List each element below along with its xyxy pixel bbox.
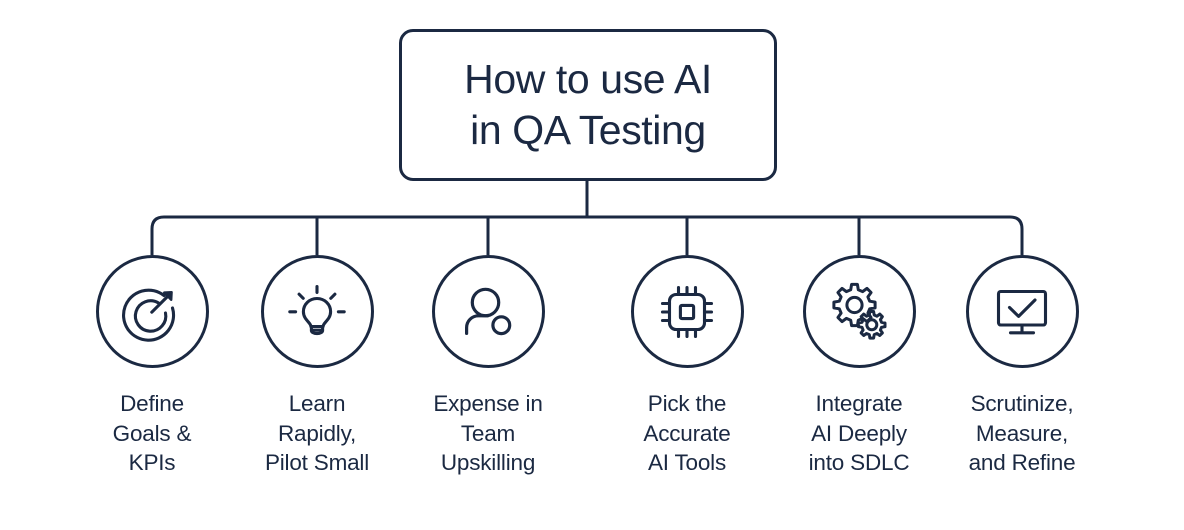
branch-icon-circle-1 <box>96 255 209 368</box>
branch-icon-circle-2 <box>261 255 374 368</box>
branch-node-1[interactable]: Define Goals & KPIs <box>93 255 211 478</box>
branch-icon-circle-6 <box>966 255 1079 368</box>
gears-icon <box>827 280 891 344</box>
target-arrow-icon <box>120 280 184 344</box>
monitor-check-icon <box>990 280 1054 344</box>
branch-icon-circle-4 <box>631 255 744 368</box>
connector-branch-1 <box>152 217 164 255</box>
page-title: How to use AI in QA Testing <box>464 54 712 156</box>
branch-label-4: Pick the Accurate AI Tools <box>628 389 746 478</box>
branch-node-3[interactable]: Expense in Team Upskilling <box>429 255 547 478</box>
branch-label-3: Expense in Team Upskilling <box>429 389 547 478</box>
branch-icon-circle-5 <box>803 255 916 368</box>
branch-node-2[interactable]: Learn Rapidly, Pilot Small <box>258 255 376 478</box>
branch-label-5: Integrate AI Deeply into SDLC <box>800 389 918 478</box>
branch-icon-circle-3 <box>432 255 545 368</box>
branch-node-5[interactable]: Integrate AI Deeply into SDLC <box>800 255 918 478</box>
person-user-icon <box>457 281 519 343</box>
diagram-canvas: How to use AI in QA Testing Define Goals… <box>0 0 1184 530</box>
cpu-chip-icon <box>656 281 718 343</box>
lightbulb-icon <box>286 281 348 343</box>
diagram-title-box: How to use AI in QA Testing <box>399 29 777 181</box>
branch-node-4[interactable]: Pick the Accurate AI Tools <box>628 255 746 478</box>
branch-node-6[interactable]: Scrutinize, Measure, and Refine <box>963 255 1081 478</box>
branch-label-6: Scrutinize, Measure, and Refine <box>963 389 1081 478</box>
branch-label-2: Learn Rapidly, Pilot Small <box>258 389 376 478</box>
connector-branch-6 <box>1010 217 1022 255</box>
branch-label-1: Define Goals & KPIs <box>93 389 211 478</box>
